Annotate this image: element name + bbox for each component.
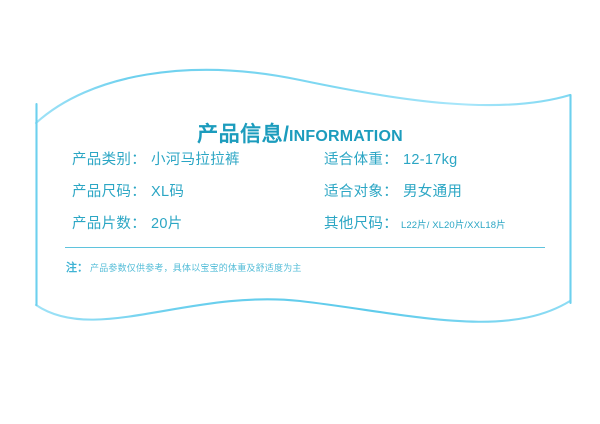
- spec-label: 产品类别：: [72, 148, 146, 169]
- spec-suitable-gender: 适合对象： 男女通用: [324, 180, 542, 201]
- spec-value: 20片: [151, 212, 183, 233]
- spec-value: 小河马拉拉裤: [151, 148, 240, 169]
- spec-value: 男女通用: [403, 180, 462, 201]
- spec-label: 其他尺码：: [324, 212, 398, 233]
- spec-value: 12-17kg: [403, 152, 458, 168]
- table-row: 产品尺码： XL码 适合对象： 男女通用: [72, 180, 542, 212]
- footnote: 注：产品参数仅供参考，具体以宝宝的体重及舒适度为主: [66, 258, 302, 276]
- spec-table: 产品类别： 小河马拉拉裤 适合体重： 12-17kg 产品尺码： XL码 适合对…: [72, 148, 542, 244]
- product-information-banner: 产品信息/INFORMATION 产品类别： 小河马拉拉裤 适合体重： 12-1…: [0, 0, 600, 424]
- spec-product-size: 产品尺码： XL码: [72, 180, 324, 201]
- spec-value: L22片/ XL20片/XXL18片: [401, 217, 506, 231]
- title-english: INFORMATION: [289, 128, 403, 145]
- spec-product-category: 产品类别： 小河马拉拉裤: [72, 148, 324, 169]
- spec-suitable-weight: 适合体重： 12-17kg: [324, 148, 542, 169]
- table-row: 产品片数： 20片 其他尺码： L22片/ XL20片/XXL18片: [72, 212, 542, 244]
- footnote-mark: 注：: [66, 262, 88, 274]
- spec-label: 产品片数：: [72, 212, 146, 233]
- spec-piece-count: 产品片数： 20片: [72, 212, 324, 233]
- page-title: 产品信息/INFORMATION: [0, 118, 600, 148]
- footnote-text: 产品参数仅供参考，具体以宝宝的体重及舒适度为主: [90, 263, 302, 273]
- table-row: 产品类别： 小河马拉拉裤 适合体重： 12-17kg: [72, 148, 542, 180]
- spec-label: 适合对象：: [324, 180, 398, 201]
- spec-label: 产品尺码：: [72, 180, 146, 201]
- spec-label: 适合体重：: [324, 148, 398, 169]
- footnote-divider: [65, 247, 545, 248]
- spec-other-sizes: 其他尺码： L22片/ XL20片/XXL18片: [324, 212, 542, 233]
- title-chinese: 产品信息: [197, 123, 283, 146]
- spec-value: XL码: [151, 180, 184, 201]
